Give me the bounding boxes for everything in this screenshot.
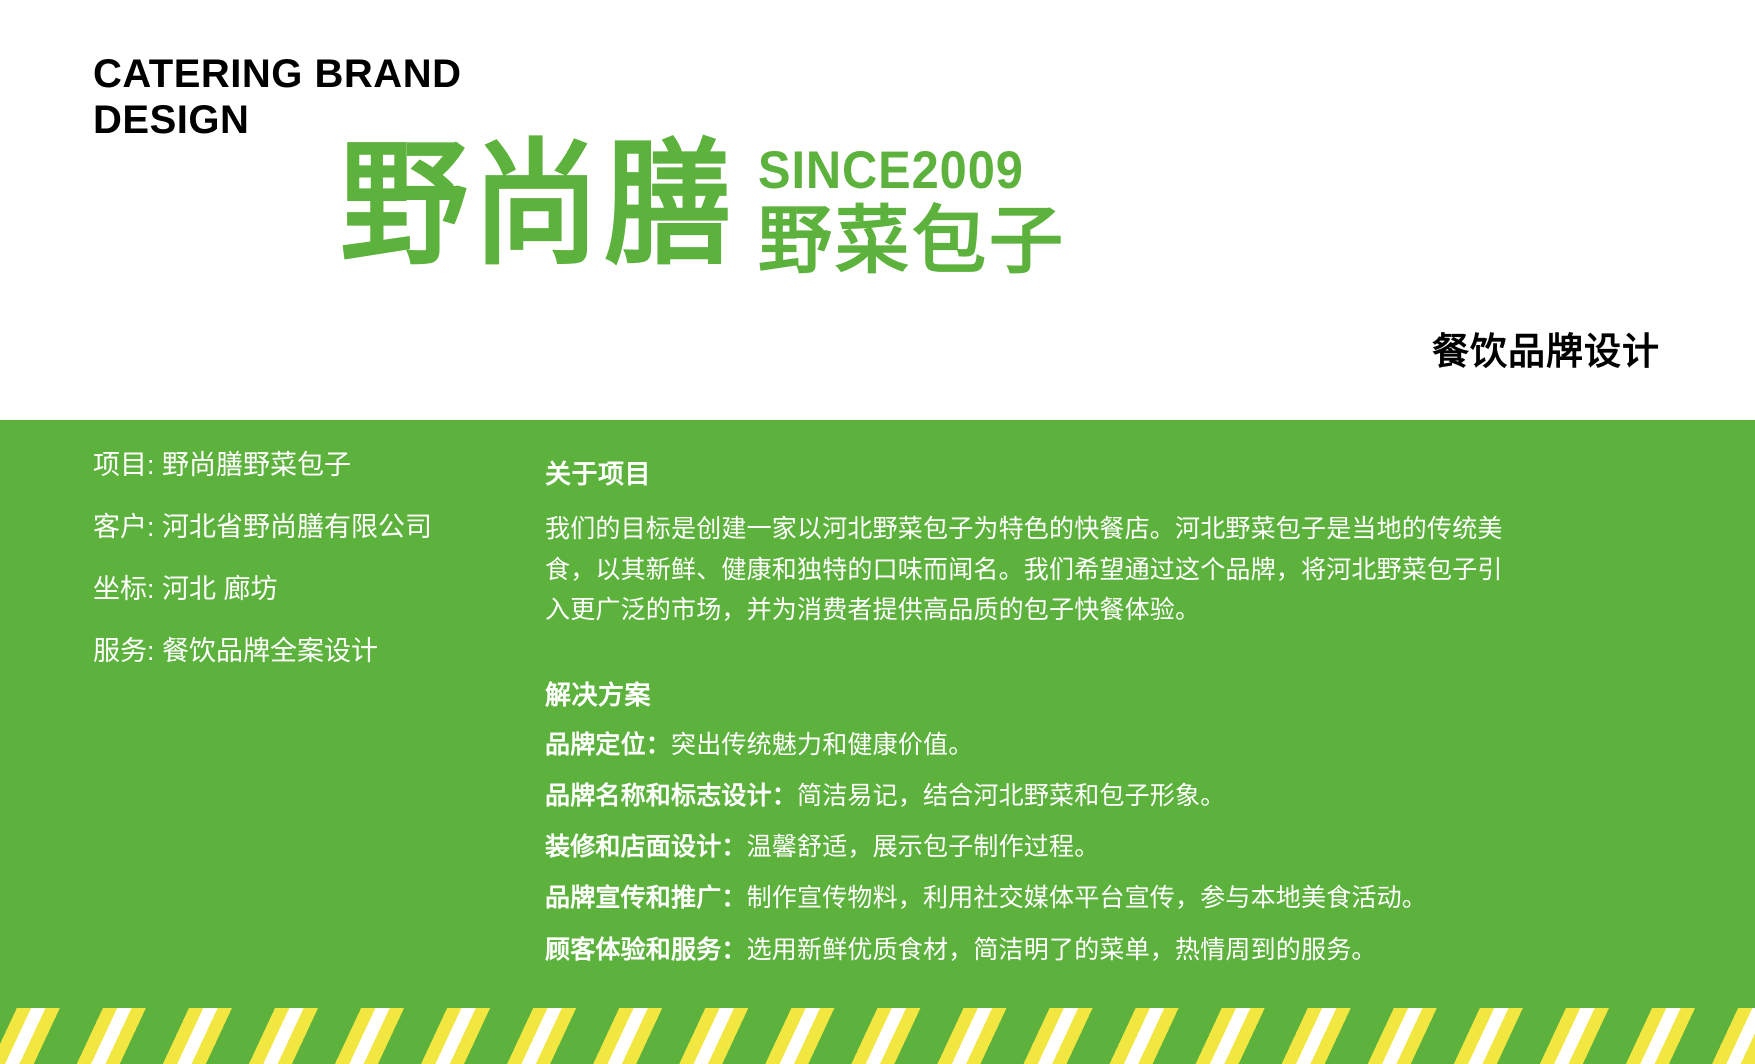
meta-line-location: 坐标: 河北 廊坊 bbox=[93, 576, 545, 603]
brand-logo-side-stack: SINCE2009 野菜包子 bbox=[758, 138, 1066, 278]
solution-heading: 解决方案 bbox=[545, 675, 1645, 712]
solution-item-value: 选用新鲜优质食材，简洁明了的菜单，热情周到的服务。 bbox=[747, 936, 1377, 964]
brand-design-board: CATERING BRAND DESIGN 野尚膳 SINCE2009 野菜包子… bbox=[0, 0, 1755, 1064]
header-tagline: 餐饮品牌设计 bbox=[1432, 333, 1660, 370]
solution-item-value: 突出传统魅力和健康价值。 bbox=[671, 731, 973, 759]
decorative-stripe-band bbox=[0, 1008, 1755, 1064]
solution-item-label: 品牌定位： bbox=[545, 731, 671, 759]
solution-item: 品牌定位：突出传统魅力和健康价值。 bbox=[545, 730, 1645, 761]
solution-item-value: 简洁易记，结合河北野菜和包子形象。 bbox=[797, 782, 1225, 810]
meta-line-project: 项目: 野尚膳野菜包子 bbox=[93, 452, 545, 479]
solution-item-label: 品牌名称和标志设计： bbox=[545, 782, 797, 810]
about-body-text: 我们的目标是创建一家以河北野菜包子为特色的快餐店。河北野菜包子是当地的传统美食，… bbox=[545, 509, 1510, 631]
brand-product-name: 野菜包子 bbox=[758, 203, 1066, 278]
meta-line-client: 客户: 河北省野尚膳有限公司 bbox=[93, 514, 545, 541]
solution-item: 装修和店面设计：温馨舒适，展示包子制作过程。 bbox=[545, 832, 1645, 863]
brand-logo-lockup: 野尚膳 SINCE2009 野菜包子 bbox=[340, 138, 1066, 278]
solution-item-value: 温馨舒适，展示包子制作过程。 bbox=[747, 833, 1100, 861]
panel-columns: 项目: 野尚膳野菜包子 客户: 河北省野尚膳有限公司 坐标: 河北 廊坊 服务:… bbox=[0, 420, 1755, 1064]
solution-item: 品牌名称和标志设计：简洁易记，结合河北野菜和包子形象。 bbox=[545, 781, 1645, 812]
brand-logo-wordmark: 野尚膳 bbox=[340, 138, 736, 274]
solution-item-value: 制作宣传物料，利用社交媒体平台宣传，参与本地美食活动。 bbox=[747, 884, 1427, 912]
solution-item-label: 装修和店面设计： bbox=[545, 833, 747, 861]
project-meta-column: 项目: 野尚膳野菜包子 客户: 河北省野尚膳有限公司 坐标: 河北 廊坊 服务:… bbox=[0, 420, 545, 1064]
solution-item: 顾客体验和服务：选用新鲜优质食材，简洁明了的菜单，热情周到的服务。 bbox=[545, 935, 1645, 966]
solution-item-label: 品牌宣传和推广： bbox=[545, 884, 747, 912]
header-section: CATERING BRAND DESIGN 野尚膳 SINCE2009 野菜包子… bbox=[0, 0, 1755, 420]
meta-line-service: 服务: 餐饮品牌全案设计 bbox=[93, 638, 545, 665]
solution-list: 品牌定位：突出传统魅力和健康价值。 品牌名称和标志设计：简洁易记，结合河北野菜和… bbox=[545, 730, 1645, 966]
solution-item: 品牌宣传和推广：制作宣传物料，利用社交媒体平台宣传，参与本地美食活动。 bbox=[545, 883, 1645, 914]
brand-since-label: SINCE2009 bbox=[758, 144, 1024, 197]
project-info-panel: 项目: 野尚膳野菜包子 客户: 河北省野尚膳有限公司 坐标: 河北 廊坊 服务:… bbox=[0, 420, 1755, 1064]
project-description-column: 关于项目 我们的目标是创建一家以河北野菜包子为特色的快餐店。河北野菜包子是当地的… bbox=[545, 420, 1755, 1064]
solution-item-label: 顾客体验和服务： bbox=[545, 936, 747, 964]
about-heading: 关于项目 bbox=[545, 454, 1645, 491]
